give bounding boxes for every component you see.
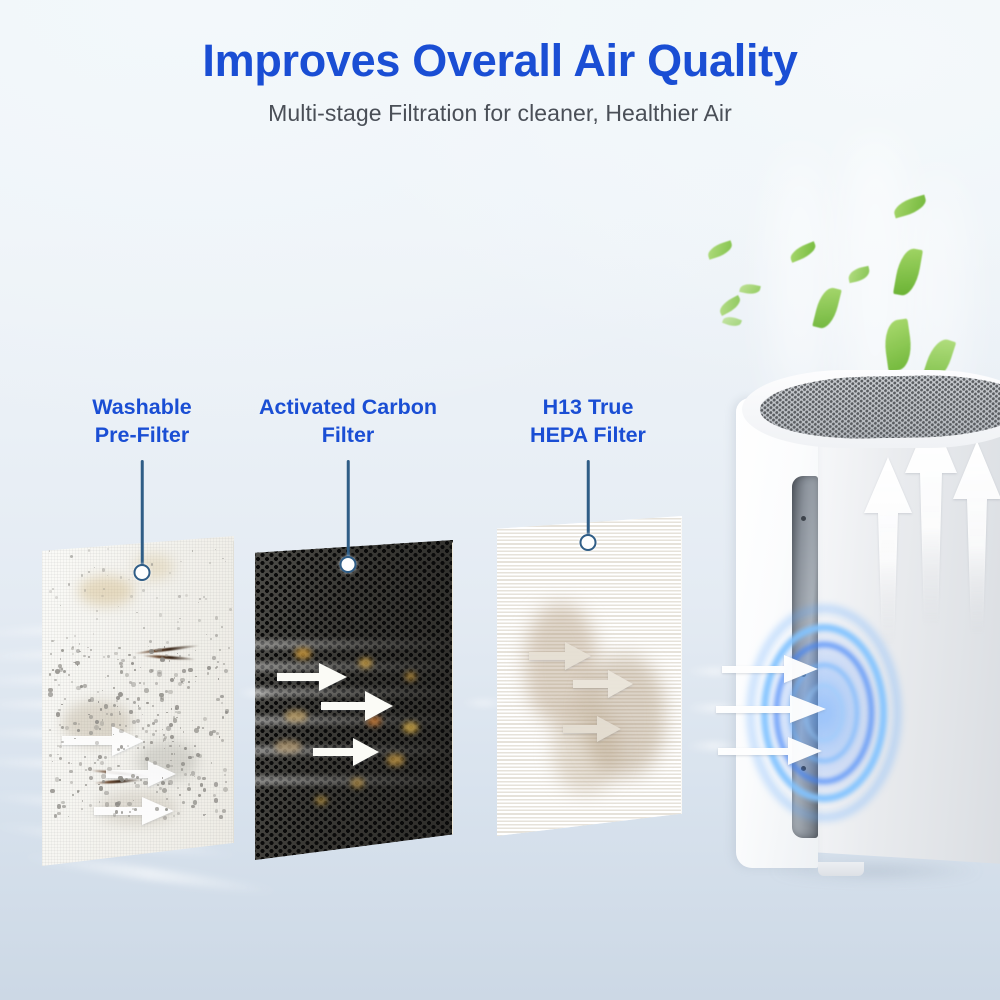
dust-speck: [171, 708, 173, 710]
dust-speck: [49, 590, 52, 593]
dust-speck: [68, 583, 71, 586]
dust-speck: [52, 669, 54, 671]
dust-speck: [72, 653, 74, 655]
dust-speck: [219, 736, 220, 737]
dust-speck: [221, 739, 224, 742]
trapped-particle: [405, 672, 416, 681]
dust-speck: [178, 595, 181, 598]
dust-speck: [131, 662, 134, 665]
dust-speck: [55, 777, 59, 781]
airflow-arrow: [321, 688, 393, 724]
dust-speck: [149, 649, 153, 653]
dust-speck: [127, 802, 131, 806]
dust-speck: [54, 814, 58, 818]
filter-stain: [78, 576, 134, 606]
dust-speck: [89, 804, 92, 807]
dust-speck: [193, 800, 198, 805]
dust-speck: [71, 647, 74, 650]
dust-speck: [70, 555, 73, 558]
callout-endpoint-dot: [580, 534, 597, 551]
dust-speck: [149, 640, 152, 643]
dust-speck: [223, 787, 228, 792]
dust-speck: [162, 777, 163, 778]
dust-speck: [76, 649, 81, 654]
dust-speck: [115, 802, 118, 805]
dust-speck: [95, 741, 99, 745]
dust-speck: [88, 656, 89, 657]
dust-speck: [103, 588, 105, 590]
dust-speck: [222, 809, 226, 813]
dust-speck: [113, 734, 114, 735]
dust-speck: [82, 800, 83, 801]
dust-speck: [89, 715, 93, 719]
dust-speck: [134, 669, 136, 671]
dust-speck: [182, 669, 186, 673]
dust-speck: [49, 673, 51, 675]
dust-speck: [71, 763, 73, 765]
dust-speck: [100, 761, 104, 765]
dust-speck: [120, 576, 122, 578]
dust-speck: [194, 776, 196, 778]
dust-speck: [57, 804, 62, 809]
dust-speck: [89, 731, 92, 734]
dust-speck: [129, 811, 131, 813]
dust-speck: [180, 678, 184, 682]
dust-speck: [152, 733, 155, 736]
dust-speck: [197, 776, 201, 780]
trapped-particle: [359, 658, 372, 668]
callout-line-2: Filter: [236, 422, 460, 450]
dust-speck: [61, 726, 64, 729]
dust-speck: [107, 548, 109, 550]
dust-speck: [61, 741, 63, 743]
dust-speck: [96, 610, 98, 612]
callout-endpoint-dot: [134, 564, 151, 581]
dust-speck: [185, 594, 188, 597]
dust-speck: [221, 626, 223, 628]
dust-speck: [49, 754, 52, 757]
leaf-icon: [739, 282, 761, 296]
dust-speck: [182, 801, 185, 804]
callout-line-1: H13 True: [492, 394, 684, 422]
dust-speck: [166, 641, 169, 644]
dust-speck: [102, 690, 104, 692]
dust-speck: [205, 598, 207, 600]
dust-speck: [203, 717, 207, 721]
dust-speck: [183, 731, 185, 733]
dust-speck: [97, 691, 99, 693]
dust-speck: [72, 794, 74, 796]
dust-speck: [61, 801, 64, 804]
dust-speck: [210, 638, 212, 640]
trapped-particle: [315, 796, 327, 805]
dust-speck: [104, 791, 109, 796]
intake-arrow: [718, 734, 822, 768]
dust-speck: [177, 787, 179, 789]
dust-speck: [58, 709, 60, 711]
dust-speck: [195, 681, 196, 682]
dust-speck: [90, 697, 94, 701]
dust-speck: [149, 669, 153, 673]
dust-speck: [221, 702, 223, 704]
dust-speck: [142, 714, 144, 716]
dust-speck: [89, 776, 93, 780]
dust-speck: [69, 770, 73, 774]
leaf-icon: [812, 285, 842, 331]
dust-speck: [133, 701, 136, 704]
dust-speck: [102, 568, 105, 571]
dust-speck: [120, 670, 124, 674]
dust-speck: [194, 745, 196, 747]
leaf-icon: [847, 266, 871, 283]
dust-speck: [118, 606, 119, 607]
dust-speck: [66, 637, 68, 639]
dust-speck: [147, 724, 150, 727]
dust-speck: [143, 627, 145, 629]
dust-speck: [225, 781, 228, 784]
dust-speck: [215, 667, 217, 669]
dust-speck: [128, 579, 129, 580]
dust-speck: [88, 571, 90, 573]
dust-speck: [213, 794, 216, 797]
dust-speck: [195, 676, 197, 678]
callout-leader-line: [587, 460, 590, 542]
trapped-particle: [295, 648, 311, 659]
dust-speck: [143, 746, 146, 749]
purifier-foot: [818, 862, 864, 876]
dust-speck: [123, 748, 125, 750]
dust-speck: [179, 618, 180, 619]
dust-speck: [206, 634, 207, 635]
dust-speck: [137, 697, 140, 700]
dust-speck: [195, 650, 196, 651]
dust-speck: [61, 704, 62, 705]
dust-speck: [81, 808, 83, 810]
dust-speck: [126, 698, 128, 700]
dust-speck: [68, 762, 70, 764]
trapped-particle: [387, 754, 404, 766]
dust-speck: [187, 787, 191, 791]
dust-speck: [75, 661, 80, 666]
dust-speck: [181, 762, 185, 766]
dust-speck: [119, 713, 121, 715]
dust-speck: [113, 687, 115, 689]
dust-speck: [188, 756, 192, 760]
dust-speck: [107, 655, 110, 658]
dust-speck: [180, 727, 182, 729]
dust-speck: [179, 794, 181, 796]
dust-speck: [93, 633, 94, 634]
dust-speck: [173, 815, 175, 817]
dust-speck: [155, 807, 159, 811]
dust-speck: [165, 654, 168, 657]
dust-speck: [159, 693, 164, 698]
intake-arrow: [716, 692, 826, 726]
dust-speck: [155, 682, 158, 685]
dust-speck: [98, 755, 102, 759]
dust-speck: [65, 726, 69, 730]
trapped-particle: [403, 722, 418, 733]
header: Improves Overall Air Quality Multi-stage…: [0, 36, 1000, 127]
dust-speck: [79, 643, 81, 645]
dust-speck: [88, 549, 91, 552]
dust-speck: [162, 729, 163, 730]
dust-speck: [177, 711, 181, 715]
dust-speck: [140, 667, 141, 668]
dust-speck: [49, 729, 51, 731]
dust-speck: [150, 741, 153, 744]
dust-speck: [223, 663, 226, 666]
dust-speck: [198, 619, 201, 622]
dust-speck: [120, 665, 123, 668]
airflow-arrow: [106, 758, 176, 790]
dust-speck: [192, 720, 193, 721]
dust-speck: [111, 723, 114, 726]
dust-speck: [131, 682, 136, 687]
dust-speck: [202, 777, 205, 780]
dust-speck: [54, 640, 55, 641]
dust-speck: [54, 679, 57, 682]
infographic-canvas: Improves Overall Air Quality Multi-stage…: [0, 0, 1000, 1000]
dust-speck: [152, 722, 155, 725]
dust-speck: [110, 713, 113, 716]
dust-speck: [104, 704, 108, 708]
dust-speck: [173, 716, 175, 718]
leaf-icon: [717, 295, 743, 316]
dust-speck: [177, 627, 180, 630]
dust-speck: [130, 595, 133, 598]
leaf-icon: [706, 240, 734, 259]
dust-speck: [81, 574, 83, 576]
dust-speck: [192, 550, 194, 552]
dust-speck: [129, 710, 132, 713]
dust-speck: [180, 561, 181, 562]
dust-speck: [105, 802, 109, 806]
dust-speck: [155, 730, 157, 732]
dust-speck: [139, 682, 141, 684]
activated-carbon-filter-panel: [255, 540, 453, 860]
dust-speck: [135, 735, 138, 738]
dust-speck: [143, 741, 145, 743]
dust-speck: [160, 658, 164, 662]
dust-speck: [119, 729, 123, 733]
dust-speck: [187, 686, 190, 689]
trapped-particle: [351, 778, 364, 788]
dust-speck: [114, 652, 117, 655]
dust-speck: [142, 589, 145, 592]
dust-speck: [120, 778, 124, 782]
callout-leader-line: [347, 460, 350, 564]
dust-speck: [85, 769, 87, 771]
dust-speck: [116, 696, 120, 700]
dust-speck: [57, 812, 61, 816]
dust-speck: [68, 674, 70, 676]
air-purifier: [736, 366, 1000, 901]
dust-speck: [57, 754, 59, 756]
dust-speck: [99, 786, 104, 791]
dust-speck: [198, 754, 202, 758]
callout-line-1: Washable: [42, 394, 242, 422]
dust-speck: [214, 782, 218, 786]
dust-speck: [94, 762, 96, 764]
dust-speck: [59, 745, 62, 748]
dust-speck: [169, 572, 171, 574]
airflow-arrow: [94, 794, 174, 828]
dust-speck: [169, 745, 172, 748]
callout-line-2: HEPA Filter: [492, 422, 684, 450]
dust-speck: [220, 695, 224, 699]
dust-speck: [170, 678, 174, 682]
dust-speck: [79, 762, 82, 765]
dust-speck: [116, 700, 118, 702]
dust-speck: [170, 735, 175, 740]
dust-speck: [218, 678, 219, 679]
dust-speck: [188, 668, 192, 672]
airflow-arrow: [563, 714, 621, 744]
dust-speck: [49, 550, 50, 551]
dust-speck: [144, 688, 148, 692]
dust-speck: [215, 809, 218, 812]
dust-speck: [161, 781, 165, 785]
leaf-icon: [882, 318, 915, 371]
dust-speck: [135, 784, 140, 789]
dust-speck: [98, 784, 100, 786]
dust-speck: [136, 776, 139, 779]
callout-line-1: Activated Carbon: [236, 394, 460, 422]
dust-speck: [216, 698, 220, 702]
dust-speck: [198, 602, 199, 603]
dust-speck: [52, 588, 54, 590]
callout-line-2: Pre-Filter: [42, 422, 242, 450]
leaf-icon: [893, 246, 923, 297]
trapped-particle: [285, 710, 307, 722]
dust-speck: [60, 658, 62, 660]
dust-speck: [83, 684, 86, 687]
dust-speck: [203, 814, 204, 815]
dust-speck: [64, 698, 66, 700]
dust-speck: [117, 659, 119, 661]
dust-speck: [212, 656, 215, 659]
dust-speck: [85, 784, 87, 786]
dust-speck: [199, 598, 201, 600]
page-subtitle: Multi-stage Filtration for cleaner, Heal…: [0, 100, 1000, 127]
dust-speck: [102, 719, 103, 720]
dust-speck: [174, 673, 178, 677]
dust-speck: [188, 783, 191, 786]
dust-speck: [177, 812, 180, 815]
leaf-icon: [892, 195, 929, 219]
dust-speck: [168, 690, 172, 694]
callout-endpoint-dot: [340, 556, 357, 573]
dust-speck: [157, 714, 159, 716]
dust-speck: [59, 779, 60, 780]
dust-speck: [131, 774, 135, 778]
dust-speck: [138, 707, 141, 710]
dust-speck: [117, 765, 119, 767]
callout-washable-pre-filter[interactable]: Washable Pre-Filter: [42, 394, 242, 449]
dust-speck: [83, 655, 86, 658]
dust-speck: [219, 815, 223, 819]
dust-speck: [48, 692, 52, 696]
dust-speck: [224, 669, 228, 673]
dust-speck: [215, 616, 218, 619]
airflow-arrow: [313, 736, 379, 768]
dust-speck: [152, 705, 154, 707]
dust-speck: [169, 660, 170, 661]
dust-speck: [200, 783, 204, 787]
trapped-particle: [275, 740, 301, 753]
callout-h13-true-hepa-filter[interactable]: H13 True HEPA Filter: [492, 394, 684, 449]
dust-speck: [177, 653, 178, 654]
dust-speck: [209, 731, 214, 736]
dust-speck: [100, 708, 102, 710]
dust-speck: [87, 647, 89, 649]
airflow-arrow: [573, 668, 633, 700]
dust-speck: [207, 672, 209, 674]
dust-speck: [173, 718, 177, 722]
dust-speck: [117, 748, 120, 751]
dust-speck: [60, 605, 62, 607]
dust-speck: [198, 794, 200, 796]
dust-speck: [71, 681, 73, 683]
dust-speck: [143, 781, 147, 785]
page-title: Improves Overall Air Quality: [0, 36, 1000, 86]
dust-speck: [207, 666, 211, 670]
dust-speck: [191, 805, 195, 809]
filter-light-band: [247, 640, 461, 649]
dust-speck: [203, 596, 205, 598]
dust-speck: [215, 634, 218, 637]
dust-speck: [136, 612, 138, 614]
dust-speck: [50, 653, 52, 655]
dust-speck: [148, 646, 149, 647]
clean-air-arrow: [948, 441, 1000, 667]
dust-speck: [94, 567, 95, 568]
dust-speck: [214, 798, 218, 802]
dust-speck: [166, 712, 167, 713]
dust-speck: [61, 649, 64, 652]
dust-speck: [145, 730, 147, 732]
dust-speck: [203, 788, 206, 791]
dust-speck: [58, 684, 60, 686]
dust-speck: [209, 562, 211, 564]
dust-speck: [163, 738, 166, 741]
dust-speck: [219, 649, 221, 651]
dust-speck: [48, 688, 53, 693]
filter-side-edge: [233, 540, 241, 857]
h13-true-hepa-filter-panel: [497, 516, 682, 836]
dust-speck: [52, 761, 53, 762]
dust-speck: [142, 727, 144, 729]
dust-speck: [215, 549, 216, 550]
dust-speck: [222, 716, 225, 719]
callout-activated-carbon-filter[interactable]: Activated Carbon Filter: [236, 394, 460, 449]
dust-speck: [107, 675, 108, 676]
dust-speck: [76, 686, 81, 691]
dust-speck: [229, 608, 232, 611]
dust-speck: [157, 672, 161, 676]
dust-speck: [103, 656, 106, 659]
leaf-icon: [788, 241, 818, 263]
dust-speck: [156, 597, 158, 599]
dust-speck: [118, 647, 120, 649]
dust-speck: [101, 774, 106, 779]
dust-speck: [62, 805, 65, 808]
dust-speck: [133, 656, 136, 659]
dust-speck: [84, 589, 86, 591]
dust-speck: [225, 711, 228, 714]
dust-speck: [50, 789, 55, 794]
